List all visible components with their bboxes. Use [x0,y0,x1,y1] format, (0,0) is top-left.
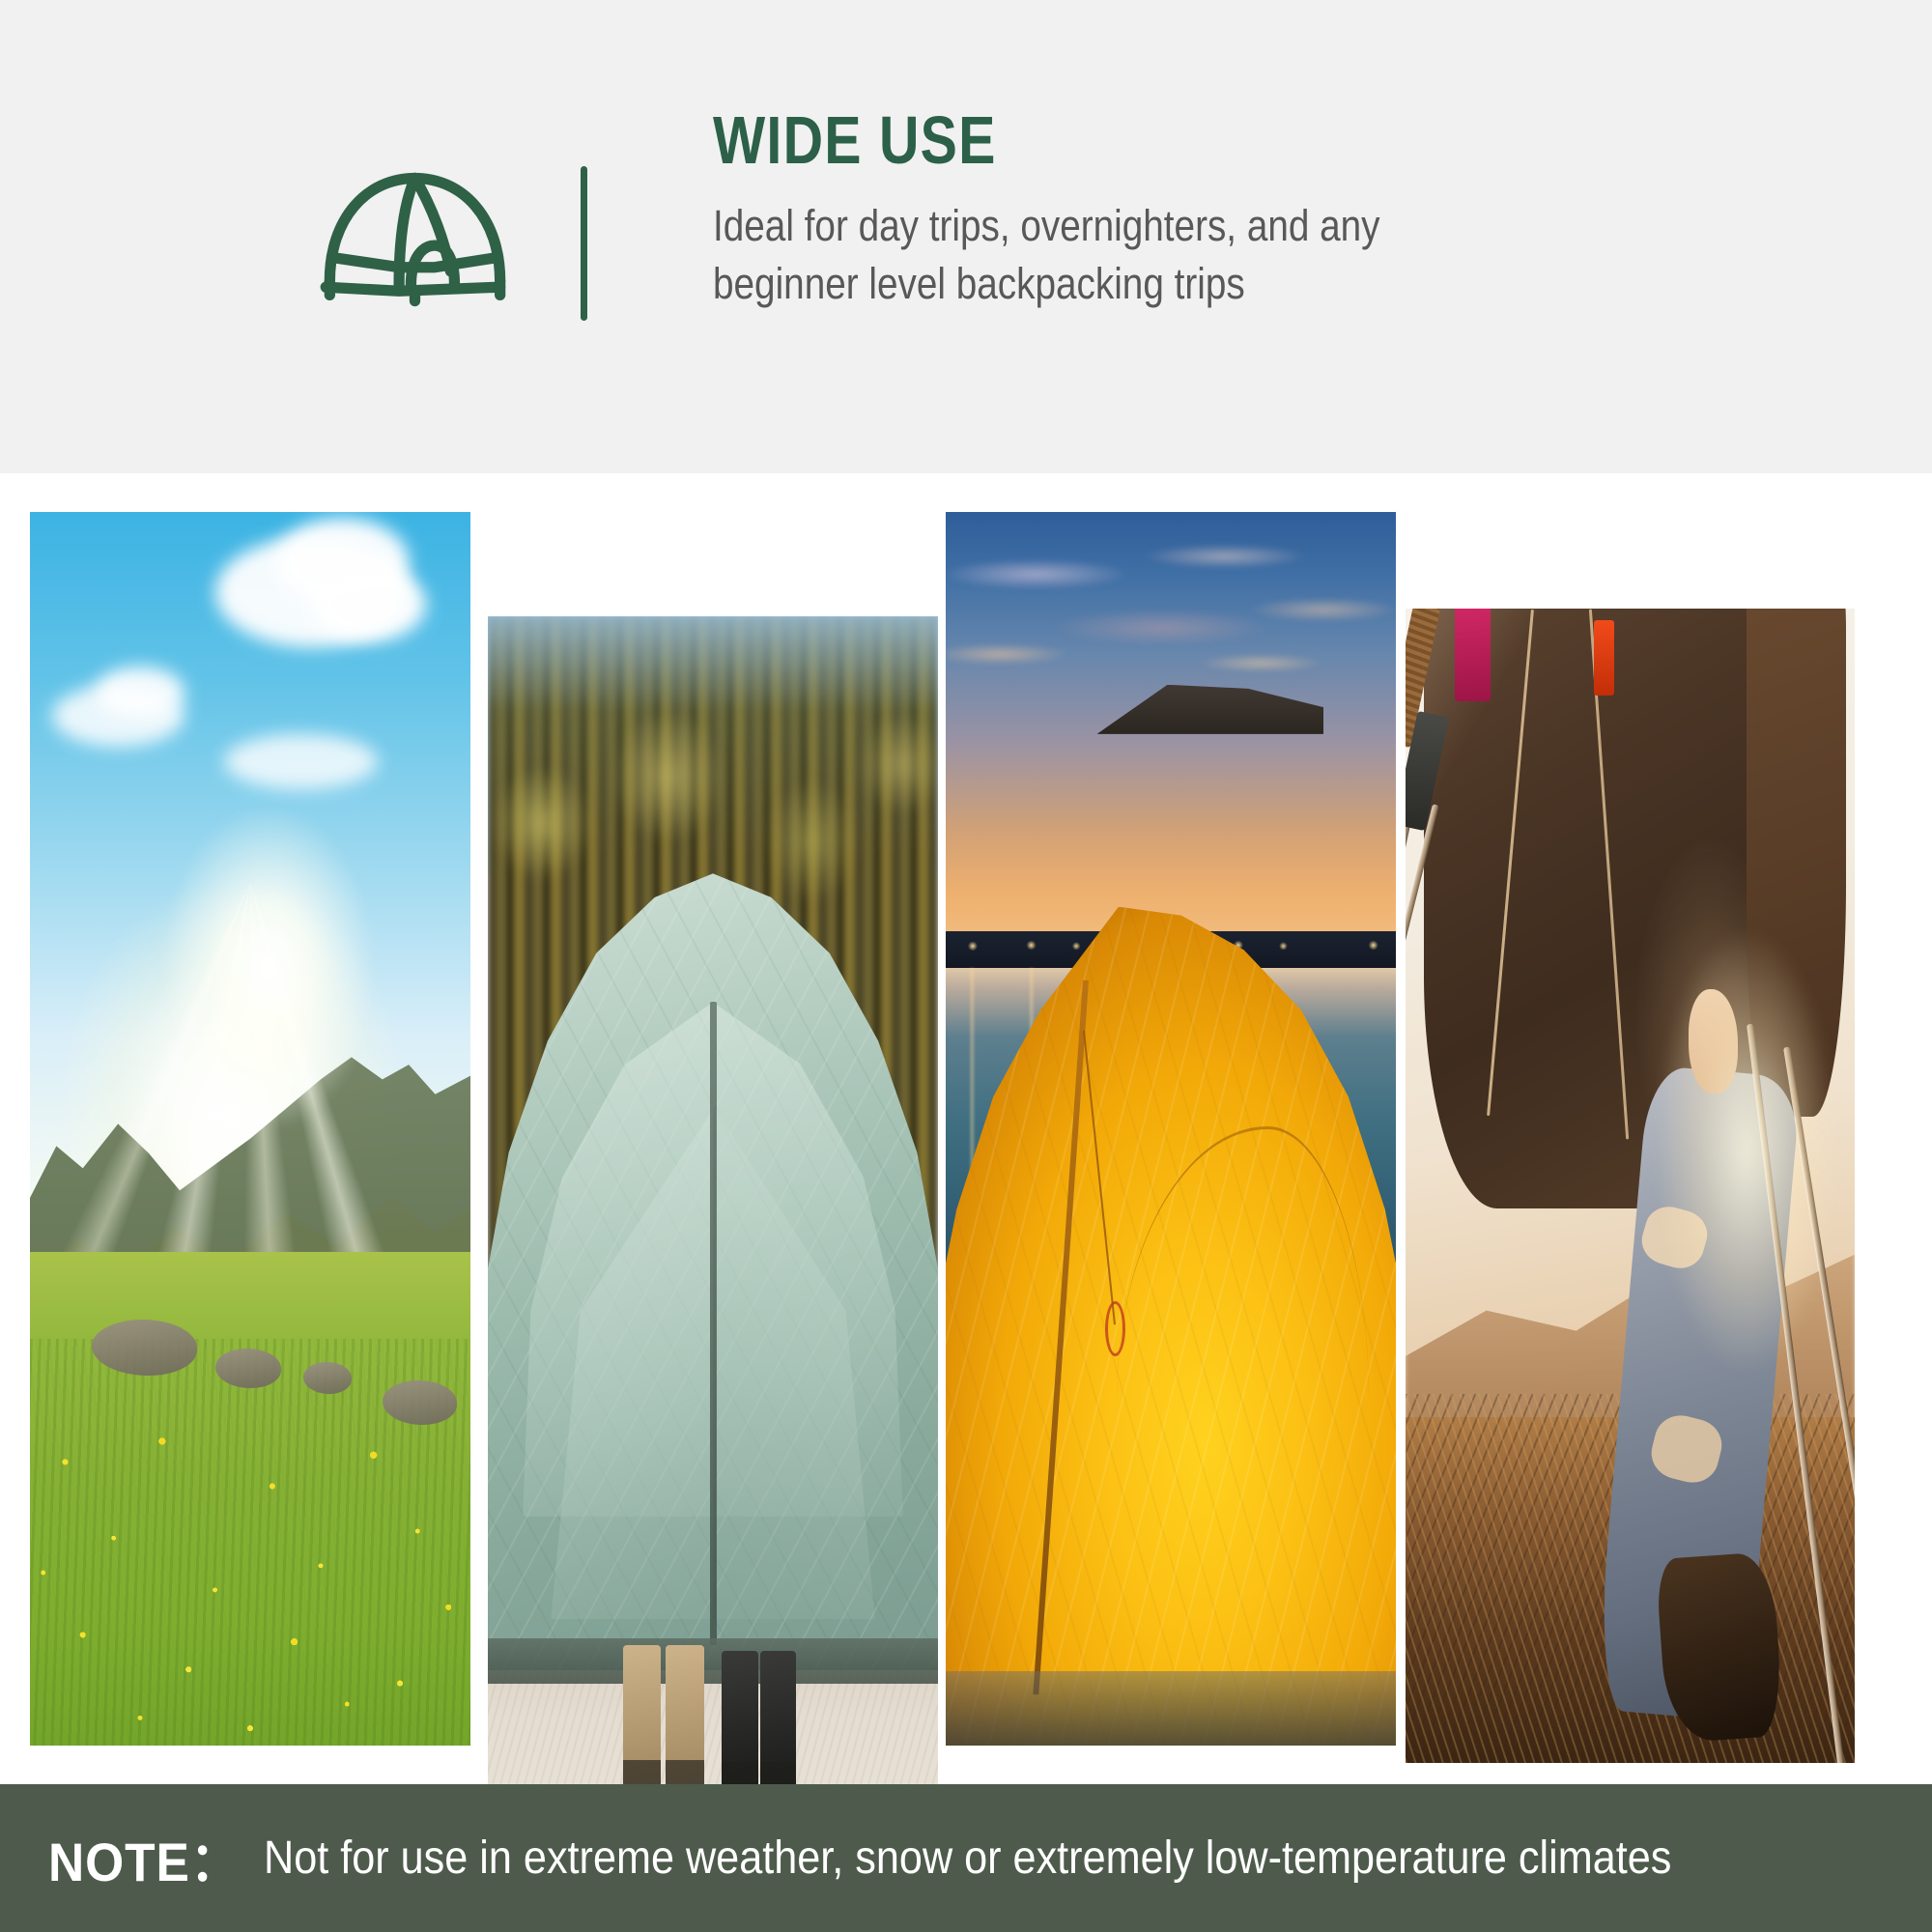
pink-strap [1455,609,1491,701]
photo-gallery [0,473,1932,1784]
gallery-image-hiker-with-trekking-poles [1406,609,1855,1763]
note-bar: NOTE： Not for use in extreme weather, sn… [0,1784,1932,1932]
gallery-image-illuminated-yellow-tent-at-dusk [946,512,1396,1746]
note-label: NOTE： [48,1819,241,1897]
gallery-image-sunrise-mountain-meadow [30,512,470,1746]
cloud [96,667,184,719]
header-description: Ideal for day trips, overnighters, and a… [713,197,1821,313]
hiking-boot [666,1645,704,1793]
orange-buckle [1594,620,1614,696]
tent-hem [488,1638,938,1684]
hiking-boot [722,1651,757,1792]
sunset-clouds [946,512,1396,956]
note-text: Not for use in extreme weather, snow or … [264,1832,1671,1885]
sun-glow [162,808,374,1128]
cloud [224,734,379,789]
product-feature-page: WIDE USE Ideal for day trips, overnighte… [0,0,1932,1932]
rock [215,1349,281,1388]
hiking-boot [760,1651,796,1792]
gallery-image-green-dome-tent-with-boots [488,616,938,1902]
yellow-wildflowers [30,1400,470,1746]
tent-zipper [710,1002,717,1645]
rock [303,1362,352,1394]
sun-flare [1657,932,1836,1371]
tent-base-shadow [946,1671,1396,1746]
hiking-boot [623,1645,662,1793]
header-description-line2: beginner level backpacking trips [713,259,1245,308]
header-text-block: WIDE USE Ideal for day trips, overnighte… [713,106,1824,313]
feature-header: WIDE USE Ideal for day trips, overnighte… [0,0,1932,473]
header-description-line1: Ideal for day trips, overnighters, and a… [713,201,1380,250]
page-title: WIDE USE [713,106,1624,174]
header-divider [581,166,587,321]
cloud [312,567,427,641]
dome-tent-icon [316,162,514,317]
